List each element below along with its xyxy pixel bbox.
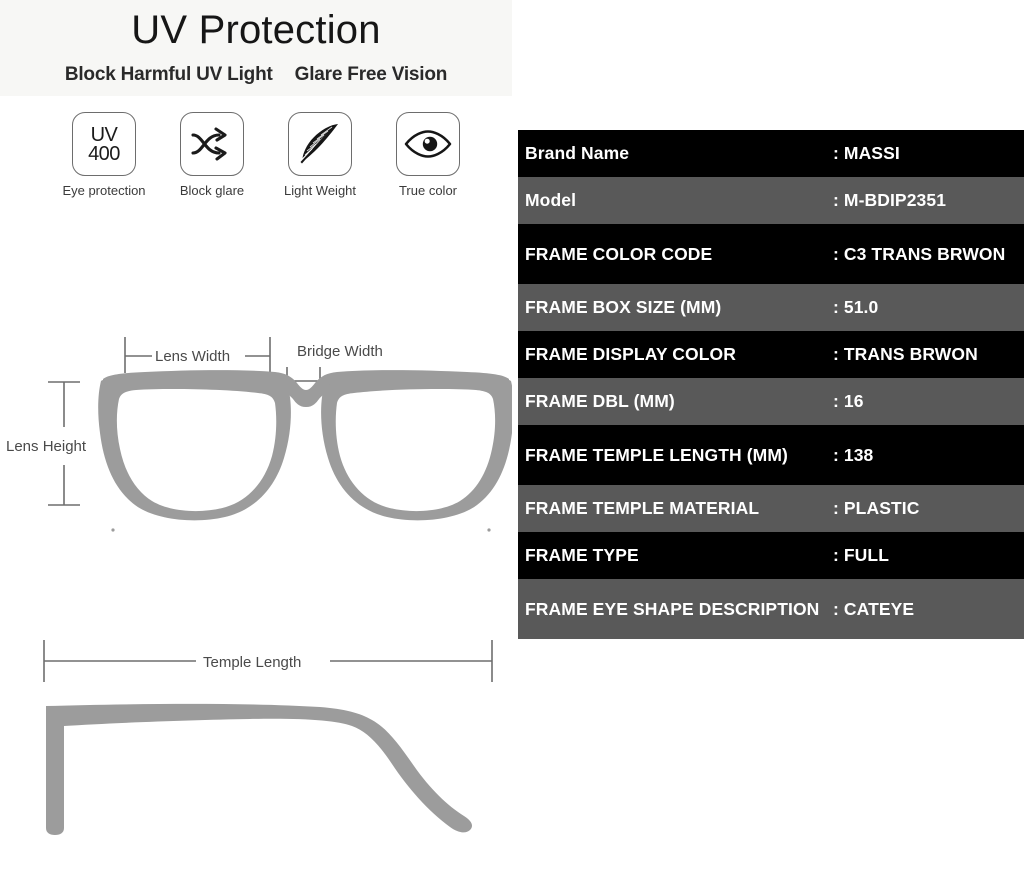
spec-value: : CATEYE xyxy=(833,599,1024,620)
feature-icon-row: UV 400 Eye protection xyxy=(56,112,476,198)
left-illustration-panel: UV Protection Block Harmful UV Light Gla… xyxy=(0,0,512,886)
feather-icon xyxy=(288,112,352,176)
uv-subtitle-block-uv: Block Harmful UV Light xyxy=(65,64,273,86)
spec-label: FRAME TEMPLE LENGTH (MM) xyxy=(525,445,833,466)
eyeglass-frame-shape xyxy=(98,370,512,520)
spec-label: FRAME EYE SHAPE DESCRIPTION xyxy=(525,599,833,620)
lens-width-dimension: Lens Width xyxy=(125,337,270,373)
lens-height-label: Lens Height xyxy=(6,438,87,455)
spec-value: : TRANS BRWON xyxy=(833,344,1024,365)
table-row: Brand Name : MASSI xyxy=(518,130,1024,177)
frame-dot-left xyxy=(111,528,114,531)
bridge-width-label: Bridge Width xyxy=(297,343,383,360)
feature-light-weight: Light Weight xyxy=(272,112,368,198)
feature-label-block-glare: Block glare xyxy=(180,183,244,198)
frame-dot-right xyxy=(487,528,490,531)
frame-measurement-diagram: Lens Width Bridge Width Lens Height xyxy=(0,325,512,575)
eye-icon xyxy=(396,112,460,176)
lens-width-label: Lens Width xyxy=(155,348,230,365)
product-spec-page: UV Protection Block Harmful UV Light Gla… xyxy=(0,0,1024,886)
spec-label: Model xyxy=(525,190,833,211)
spec-label: FRAME DISPLAY COLOR xyxy=(525,344,833,365)
table-row: Model : M-BDIP2351 xyxy=(518,177,1024,224)
spec-label: FRAME TYPE xyxy=(525,545,833,566)
spec-value: : 138 xyxy=(833,445,1024,466)
temple-length-dimension: Temple Length xyxy=(44,640,492,682)
feature-eye-protection: UV 400 Eye protection xyxy=(56,112,152,198)
temple-measurement-diagram: Temple Length xyxy=(0,630,512,860)
feature-label-true-color: True color xyxy=(399,183,457,198)
spec-value: : PLASTIC xyxy=(833,498,1024,519)
feature-true-color: True color xyxy=(380,112,476,198)
spec-value: : M-BDIP2351 xyxy=(833,190,1024,211)
lens-height-dimension: Lens Height xyxy=(6,382,87,505)
uv-subtitle-glare-free: Glare Free Vision xyxy=(295,64,448,86)
feature-label-eye-protection: Eye protection xyxy=(62,183,145,198)
spec-value: : MASSI xyxy=(833,143,1024,164)
feature-block-glare: Block glare xyxy=(164,112,260,198)
spec-value: : C3 TRANS BRWON xyxy=(833,244,1024,265)
spec-label: Brand Name xyxy=(525,143,833,164)
table-row: FRAME TEMPLE LENGTH (MM) : 138 xyxy=(518,425,1024,485)
table-row: FRAME DISPLAY COLOR : TRANS BRWON xyxy=(518,331,1024,378)
table-row: FRAME DBL (MM) : 16 xyxy=(518,378,1024,425)
table-row: FRAME EYE SHAPE DESCRIPTION : CATEYE xyxy=(518,579,1024,639)
uv-subtitle-row: Block Harmful UV Light Glare Free Vision xyxy=(0,64,512,86)
spec-value: : 51.0 xyxy=(833,297,1024,318)
spec-label: FRAME DBL (MM) xyxy=(525,391,833,412)
uv-protection-title: UV Protection xyxy=(0,6,512,54)
spec-label: FRAME COLOR CODE xyxy=(525,244,833,265)
spec-label: FRAME BOX SIZE (MM) xyxy=(525,297,833,318)
table-row: FRAME TEMPLE MATERIAL : PLASTIC xyxy=(518,485,1024,532)
feature-label-light-weight: Light Weight xyxy=(284,183,356,198)
uv400-badge-line1: UV xyxy=(88,126,120,145)
uv400-badge-line2: 400 xyxy=(88,145,120,164)
product-spec-table: Brand Name : MASSI Model : M-BDIP2351 FR… xyxy=(518,130,1024,639)
table-row: FRAME TYPE : FULL xyxy=(518,532,1024,579)
temple-length-label: Temple Length xyxy=(203,654,301,671)
table-row: FRAME BOX SIZE (MM) : 51.0 xyxy=(518,284,1024,331)
spec-label: FRAME TEMPLE MATERIAL xyxy=(525,498,833,519)
uv400-icon: UV 400 xyxy=(72,112,136,176)
shuffle-arrows-icon xyxy=(180,112,244,176)
table-row: FRAME COLOR CODE : C3 TRANS BRWON xyxy=(518,224,1024,284)
spec-value: : 16 xyxy=(833,391,1024,412)
spec-value: : FULL xyxy=(833,545,1024,566)
temple-arm-shape xyxy=(46,704,472,835)
